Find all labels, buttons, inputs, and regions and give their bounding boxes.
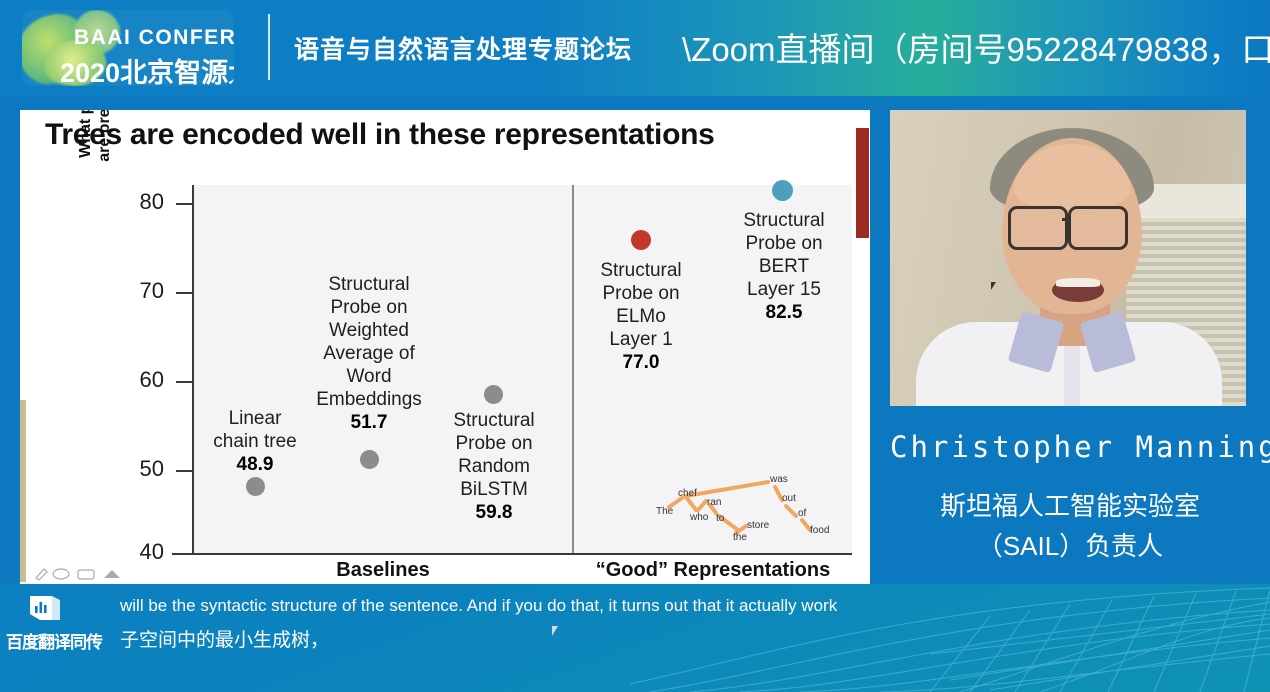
label-line: Probe on <box>298 296 440 319</box>
y-axis-title: What percent of undirected edges are pre… <box>76 110 116 199</box>
y-tick-80 <box>176 203 194 205</box>
speaker-video-feed[interactable] <box>890 110 1246 406</box>
speaker-affiliation: 斯坦福人工智能实验室 （SAIL）负责人 <box>880 486 1260 566</box>
tree-word-to: to <box>716 513 724 524</box>
y-tick-label-60: 60 <box>120 367 164 393</box>
data-point-bert-layer-15[interactable] <box>772 180 793 201</box>
speaker-affiliation-line1: 斯坦福人工智能实验室 <box>880 486 1260 526</box>
speaker-name: Christopher Manning <box>890 430 1250 464</box>
tree-word-chef: chef <box>678 488 697 499</box>
y-tick-label-70: 70 <box>120 278 164 304</box>
tree-word-store: store <box>747 520 769 531</box>
slide-toolbar-icons[interactable] <box>34 565 144 581</box>
label-line: Probe on <box>428 432 560 455</box>
point-label-bert-layer-15: Structural Probe on BERT Layer 15 82.5 <box>719 209 849 324</box>
tree-word-the-2: the <box>733 532 747 543</box>
y-tick-60 <box>176 381 194 383</box>
label-line: BERT <box>719 255 849 278</box>
label-line: Embeddings <box>298 388 440 411</box>
baidu-translate-label: 百度翻译同传 <box>0 628 108 653</box>
tree-word-who: who <box>690 512 708 523</box>
label-line: Structural <box>576 259 706 282</box>
slide-scrollbar-thumb[interactable] <box>856 128 869 238</box>
glasses-lens-left <box>1008 206 1068 250</box>
label-line: Structural <box>298 273 440 296</box>
point-label-elmo-layer-1: Structural Probe on ELMo Layer 1 77.0 <box>576 259 706 374</box>
label-line: Average of <box>298 342 440 365</box>
header-divider <box>268 14 270 80</box>
logo-text-english: BAAI CONFERENCE <box>74 26 234 50</box>
mouse-cursor-icon <box>991 282 999 290</box>
zoom-room-marquee: \Zoom直播间（房间号95228479838，口 <box>682 23 1270 71</box>
label-line: Random <box>428 455 560 478</box>
label-line: Word <box>298 365 440 388</box>
y-axis-title-line1: What percent of undirected edges <box>76 110 95 199</box>
x-category-baselines: Baselines <box>192 559 574 582</box>
data-point-linear-chain-tree[interactable] <box>246 477 265 496</box>
point-value: 48.9 <box>237 454 274 475</box>
label-line: Probe on <box>576 282 706 305</box>
y-axis-tick-labels: 80 70 60 50 40 <box>116 185 164 555</box>
y-tick-label-50: 50 <box>120 456 164 482</box>
y-tick-70 <box>176 292 194 294</box>
y-axis-title-line2: are predicted correctly? (PTB Test) <box>95 110 114 199</box>
tree-word-food: food <box>810 525 829 536</box>
label-line: Probe on <box>719 232 849 255</box>
baidu-translate-icon <box>26 592 66 624</box>
point-value: 82.5 <box>766 302 803 323</box>
point-label-random-bilstm: Structural Probe on Random BiLSTM 59.8 <box>428 409 560 524</box>
point-value: 77.0 <box>623 352 660 373</box>
point-label-weighted-average-embeddings: Structural Probe on Weighted Average of … <box>298 273 440 434</box>
tree-word-ran: ran <box>707 497 721 508</box>
slide-title: Trees are encoded well in these represen… <box>45 118 845 152</box>
label-line: Structural <box>719 209 849 232</box>
point-value: 59.8 <box>476 502 513 523</box>
point-value: 51.7 <box>351 412 388 433</box>
y-tick-label-40: 40 <box>120 539 164 565</box>
presentation-slide[interactable]: Trees are encoded well in these represen… <box>20 110 870 584</box>
tree-word-was: was <box>770 474 788 485</box>
shirt-placket <box>1064 342 1080 406</box>
y-tick-40 <box>176 553 194 555</box>
dependency-tree-annotation: The chef who ran to the store was out of… <box>652 460 852 550</box>
speaker-teeth <box>1056 278 1100 287</box>
baai-conference-logo: BAAI CONFERENCE 2020北京智源大会 <box>22 10 234 86</box>
tree-word-the-1: The <box>656 506 673 517</box>
label-line: ELMo <box>576 305 706 328</box>
glasses-bridge <box>1062 218 1070 221</box>
speaker-affiliation-line2: （SAIL）负责人 <box>880 526 1260 566</box>
subtitle-english: will be the syntactic structure of the s… <box>120 596 1120 616</box>
label-line: Layer 15 <box>719 278 849 301</box>
eyeglasses-icon <box>1008 206 1140 246</box>
subtitle-chinese: 子空间中的最小生成树， <box>120 625 1120 652</box>
tree-word-of: of <box>798 508 806 519</box>
logo-text-chinese: 2020北京智源大会 <box>60 51 234 86</box>
x-category-good-representations: “Good” Representations <box>574 559 852 582</box>
forum-title: 语音与自然语言处理专题论坛 <box>294 30 632 66</box>
data-point-random-bilstm[interactable] <box>484 385 503 404</box>
tree-word-out: out <box>782 493 796 504</box>
data-point-elmo-layer-1[interactable] <box>631 230 651 250</box>
x-axis-line <box>172 553 852 555</box>
glasses-lens-right <box>1068 206 1128 250</box>
mouse-cursor-pointer-icon <box>552 626 562 636</box>
y-tick-label-80: 80 <box>120 189 164 215</box>
chart-plot-area: 80 70 60 50 40 What percent of undirecte… <box>172 185 852 555</box>
label-line: BiLSTM <box>428 478 560 501</box>
label-line: Structural <box>428 409 560 432</box>
conference-header-banner: BAAI CONFERENCE 2020北京智源大会 语音与自然语言处理专题论坛… <box>0 0 1270 96</box>
label-line: Layer 1 <box>576 328 706 351</box>
label-line: Weighted <box>298 319 440 342</box>
data-point-weighted-average-embeddings[interactable] <box>360 450 379 469</box>
y-axis-line <box>192 185 194 553</box>
category-divider-line <box>572 185 574 553</box>
slide-left-accent-strip <box>20 400 26 582</box>
